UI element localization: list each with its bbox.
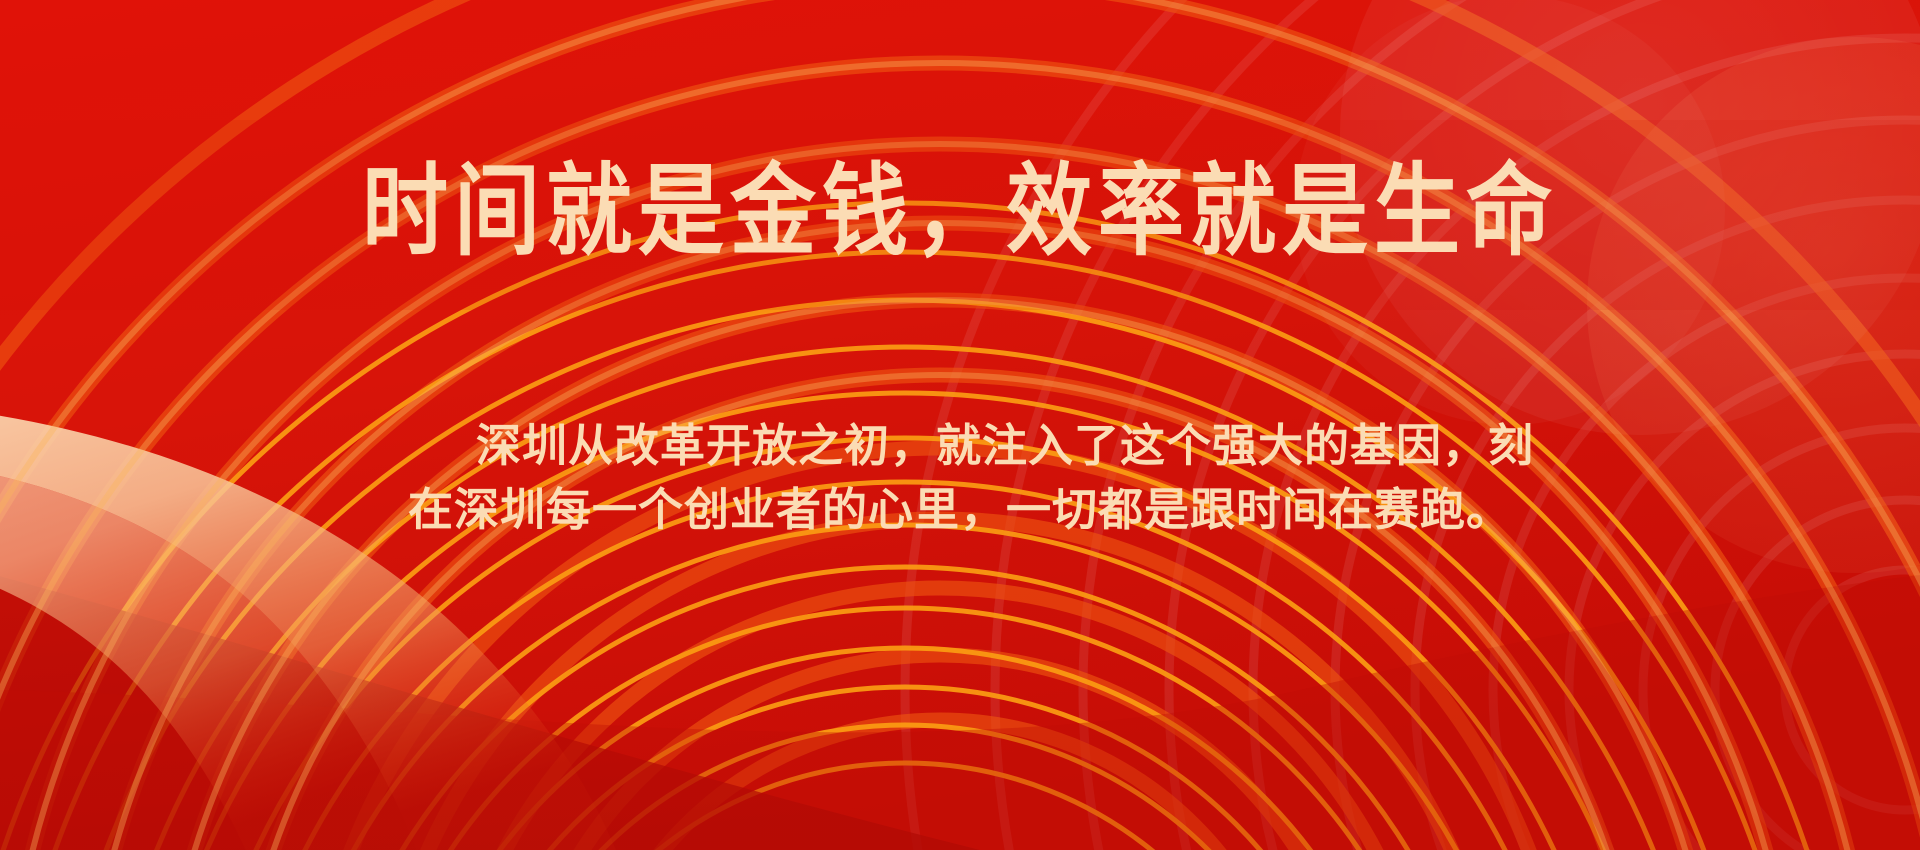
background-artwork bbox=[0, 0, 1920, 850]
headline-backdrop-wash bbox=[0, 120, 1920, 310]
banner-canvas: 时间就是金钱，效率就是生命 深圳从改革开放之初，就注入了这个强大的基因，刻 在深… bbox=[0, 0, 1920, 850]
